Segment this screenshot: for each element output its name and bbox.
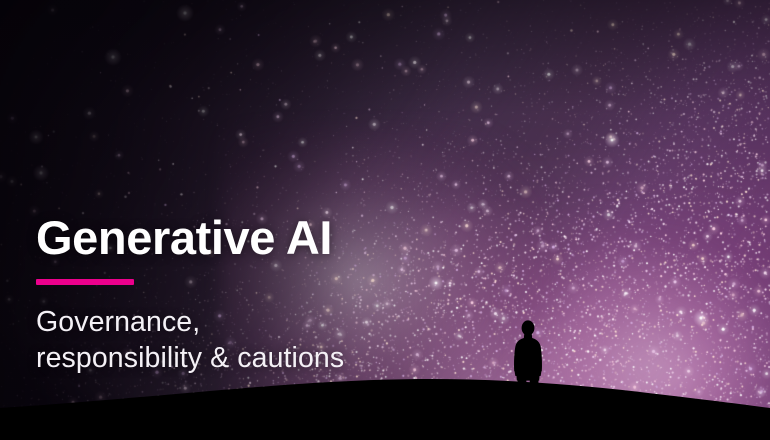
title-slide: Generative AI Governance, responsibility… [0,0,770,440]
subtitle-line-1: Governance, [36,304,476,340]
slide-subtitle: Governance, responsibility & cautions [36,304,476,377]
page-title: Generative AI [36,214,476,263]
person-standing-silhouette [506,320,550,418]
slide-text-block: Generative AI Governance, responsibility… [36,214,476,377]
subtitle-line-2: responsibility & cautions [36,340,476,376]
accent-bar [36,279,134,285]
ground-hill-silhouette [0,370,770,440]
